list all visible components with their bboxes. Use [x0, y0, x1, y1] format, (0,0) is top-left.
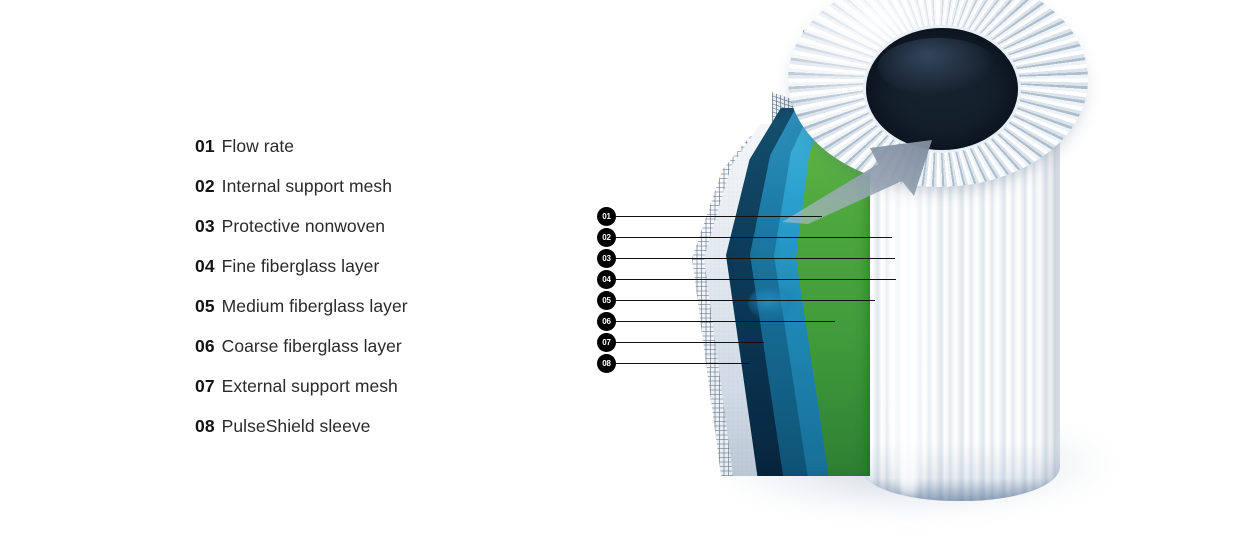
legend-label: Medium fiberglass layer [222, 296, 408, 317]
legend-label: Fine fiberglass layer [222, 256, 380, 277]
legend-label: External support mesh [222, 376, 398, 397]
legend-label: Flow rate [222, 136, 294, 157]
legend-number: 04 [195, 256, 215, 277]
legend-number: 06 [195, 336, 215, 357]
legend-label: Protective nonwoven [222, 216, 385, 237]
diagram-canvas: 01 Flow rate 02 Internal support mesh 03… [0, 0, 1240, 550]
callout-badge-06[interactable]: 06 [597, 312, 616, 331]
legend-list: 01 Flow rate 02 Internal support mesh 03… [195, 126, 525, 446]
legend-label: Internal support mesh [222, 176, 392, 197]
legend-number: 07 [195, 376, 215, 397]
core-opening-sheen [878, 38, 998, 96]
legend-number: 01 [195, 136, 215, 157]
legend-item-06: 06 Coarse fiberglass layer [195, 326, 525, 366]
callout-badge-01[interactable]: 01 [597, 207, 616, 226]
legend-number: 03 [195, 216, 215, 237]
legend-label: PulseShield sleeve [222, 416, 371, 437]
legend-item-02: 02 Internal support mesh [195, 166, 525, 206]
legend-item-05: 05 Medium fiberglass layer [195, 286, 525, 326]
media-swirl-detail [748, 286, 800, 320]
callout-badge-05[interactable]: 05 [597, 291, 616, 310]
legend-item-03: 03 Protective nonwoven [195, 206, 525, 246]
callout-badge-03[interactable]: 03 [597, 249, 616, 268]
legend-item-08: 08 PulseShield sleeve [195, 406, 525, 446]
legend-number: 08 [195, 416, 215, 437]
legend-item-07: 07 External support mesh [195, 366, 525, 406]
legend-item-04: 04 Fine fiberglass layer [195, 246, 525, 286]
callout-badge-02[interactable]: 02 [597, 228, 616, 247]
callout-badge-07[interactable]: 07 [597, 333, 616, 352]
flow-arrow-icon [782, 138, 942, 224]
filter-cartridge-illustration [560, 0, 1240, 550]
legend-number: 05 [195, 296, 215, 317]
callout-badge-04[interactable]: 04 [597, 270, 616, 289]
legend-number: 02 [195, 176, 215, 197]
legend-label: Coarse fiberglass layer [222, 336, 402, 357]
callout-badge-08[interactable]: 08 [597, 354, 616, 373]
legend-item-01: 01 Flow rate [195, 126, 525, 166]
